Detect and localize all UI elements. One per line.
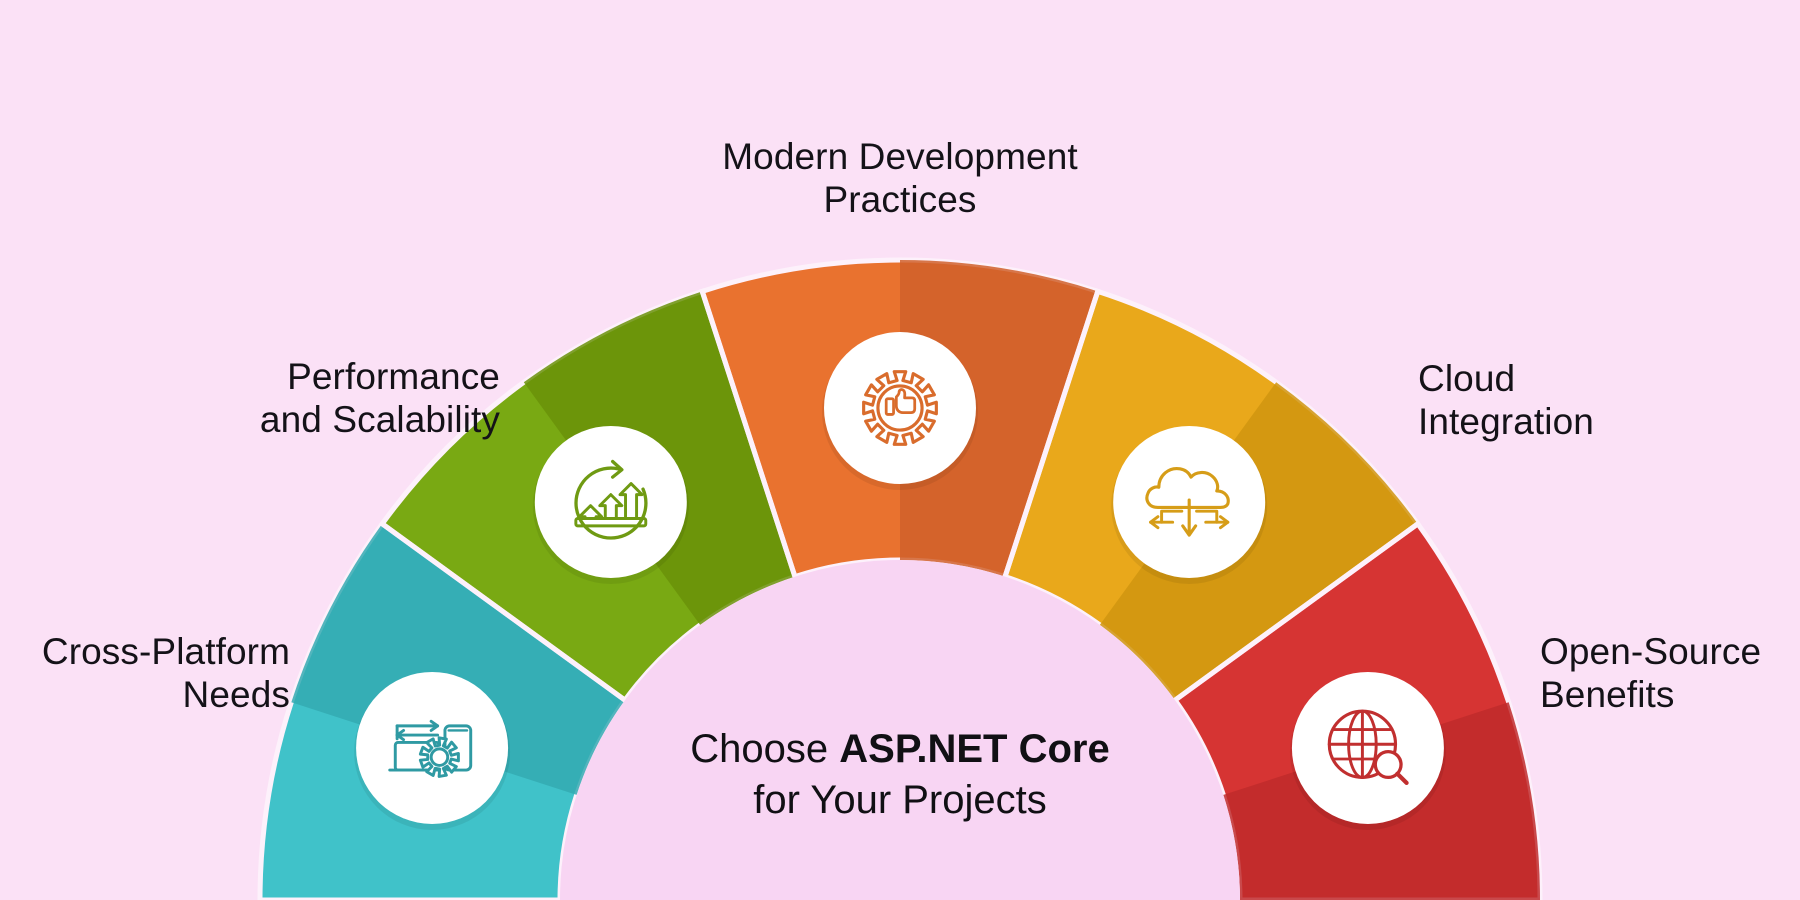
segment-label-cloud-integration: Cloud Integration: [1418, 357, 1788, 444]
center-headline: Choose ASP.NET Core for Your Projects: [620, 724, 1180, 826]
icon-disc: [824, 332, 976, 484]
icon-bubble-cloud-integration[interactable]: [1111, 426, 1267, 584]
segment-label-cross-platform: Cross-Platform Needs: [10, 630, 290, 717]
infographic-canvas: Choose ASP.NET Core for Your Projects Cr…: [0, 0, 1800, 900]
center-headline-prefix: Choose: [690, 727, 839, 771]
icon-disc: [535, 426, 687, 578]
icon-bubble-performance[interactable]: [533, 426, 689, 584]
center-headline-line1: Choose ASP.NET Core: [620, 724, 1180, 775]
center-headline-line2: for Your Projects: [620, 775, 1180, 826]
icon-bubble-cross-platform[interactable]: [354, 672, 510, 830]
icon-bubble-modern-practices[interactable]: [822, 332, 978, 490]
icon-bubble-open-source[interactable]: [1290, 672, 1446, 830]
center-headline-brand: ASP.NET Core: [839, 727, 1109, 771]
icon-disc: [1292, 672, 1444, 824]
segment-label-modern-practices: Modern Development Practices: [620, 135, 1180, 222]
segment-label-performance: Performance and Scalability: [100, 355, 500, 442]
segment-label-open-source: Open-Source Benefits: [1540, 630, 1800, 717]
